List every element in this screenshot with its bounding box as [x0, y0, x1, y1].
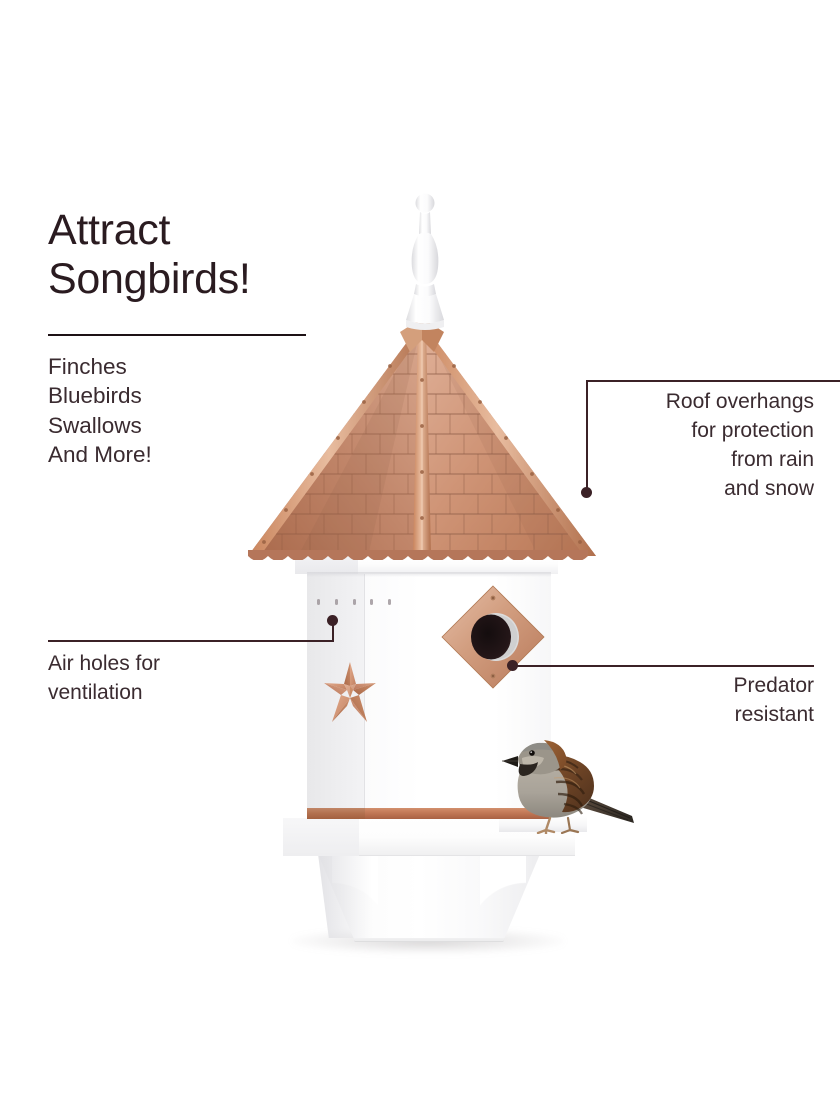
- air-holes: [317, 598, 391, 606]
- callout-predator-resistant: Predator resistant: [560, 672, 814, 730]
- copper-shingle-roof: [238, 318, 606, 560]
- copper-star-ornament: [322, 660, 378, 724]
- callout-air-holes: Air holes for ventilation: [48, 650, 298, 708]
- cornice-shadow: [307, 572, 551, 577]
- finial: [404, 190, 446, 330]
- air-hole: [353, 599, 356, 605]
- pedestal-curve-right: [480, 853, 526, 941]
- air-hole: [370, 599, 373, 605]
- air-hole: [335, 599, 338, 605]
- infographic-canvas: Attract Songbirds! Finches Bluebirds Swa…: [0, 0, 840, 1120]
- air-hole: [388, 599, 391, 605]
- air-hole: [317, 599, 320, 605]
- leader-dot-air: [327, 615, 338, 626]
- copper-diamond-entry-plate: [440, 584, 546, 690]
- leader-line-air-horizontal: [48, 640, 334, 642]
- callout-roof-overhang: Roof overhangs for protection from rain …: [586, 388, 814, 504]
- leader-line-predator: [512, 665, 814, 667]
- birdhouse-illustration: [0, 0, 840, 1120]
- leader-line-roof-horizontal: [586, 380, 840, 382]
- house-sparrow: [494, 732, 638, 834]
- base-platform-left-face: [283, 818, 359, 856]
- leader-dot-predator: [507, 660, 518, 671]
